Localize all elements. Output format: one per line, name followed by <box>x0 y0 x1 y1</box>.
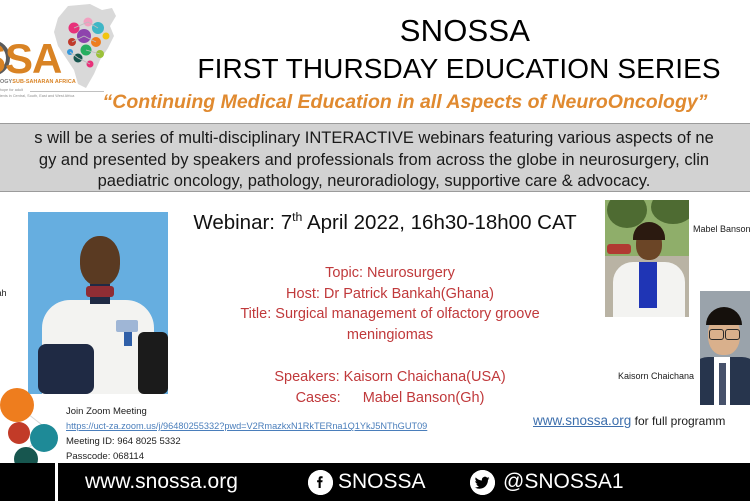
zoom-meeting-passcode: Passcode: 068114 <box>66 449 427 464</box>
footer-divider <box>55 463 58 501</box>
photo-head <box>80 236 120 286</box>
webinar-datetime: Webinar: 7th April 2022, 16h30-18h00 CAT <box>150 210 620 235</box>
session-details: Topic: Neurosurgery Host: Dr Patrick Ban… <box>180 263 600 408</box>
detail-speakers: Speakers: Kaisorn Chaichana(USA) <box>180 367 600 388</box>
logo-subtitle-grey: ONCOLOGY <box>0 79 12 85</box>
zoom-meeting-details: Join Zoom Meeting https://uct-za.zoom.us… <box>66 404 427 464</box>
description-line-1: s will be a series of multi-disciplinary… <box>0 129 750 148</box>
caption-kaisorn-chaichana: Kaisorn Chaichana <box>618 371 694 381</box>
facebook-icon[interactable] <box>308 470 333 495</box>
programme-website-link[interactable]: www.snossa.org <box>533 413 631 428</box>
footer-website[interactable]: www.snossa.org <box>85 470 238 494</box>
photo-chair <box>138 332 168 394</box>
tagline: “Continuing Medical Education in all Asp… <box>55 91 750 114</box>
description-band: s will be a series of multi-disciplinary… <box>0 123 750 192</box>
photo-badge-emblem <box>124 332 132 346</box>
programme-link-row: www.snossa.org for full programm <box>533 413 725 428</box>
logo-subtitle-orange: SUB-SAHARAN AFRICA <box>12 79 76 85</box>
dot-orange <box>0 388 34 422</box>
webinar-label: Webinar: 7 <box>193 211 292 234</box>
photo-name-badge <box>116 320 138 332</box>
footer-bar: www.snossa.org SNOSSA @SNOSSA1 <box>0 463 750 501</box>
dot-teal <box>30 424 58 452</box>
photo-car <box>607 244 631 254</box>
caption-patrick-bankah: ankah <box>0 288 7 298</box>
detail-spacer <box>180 345 600 367</box>
programme-link-tail: for full programm <box>631 414 725 428</box>
photo-blue-scrub <box>639 262 657 308</box>
photo-glasses-right <box>725 329 740 340</box>
dot-red <box>8 422 30 444</box>
logo-subtitle: ONCOLOGYSUB-SAHARAN AFRICA <box>0 79 76 85</box>
page-title: SNOSSA <box>180 14 750 49</box>
detail-title-line2: meningiomas <box>180 325 600 346</box>
poster-canvas: SSA ONCOLOGYSUB-SAHARAN AFRICA Improving… <box>0 0 750 501</box>
webinar-date: April 2022, 16h30-18h00 CAT <box>302 211 576 234</box>
footer-twitter-handle[interactable]: @SNOSSA1 <box>503 470 624 494</box>
webinar-ordinal: th <box>292 210 302 224</box>
twitter-icon[interactable] <box>470 470 495 495</box>
photo-necktie <box>719 363 726 405</box>
zoom-meeting-link[interactable]: https://uct-za.zoom.us/j/96480255332?pwd… <box>66 421 427 431</box>
zoom-meeting-heading: Join Zoom Meeting <box>66 404 427 419</box>
photo-glasses-left <box>709 329 724 340</box>
logo-acronym: SSA <box>0 38 61 80</box>
description-line-2: gy and presented by speakers and profess… <box>0 151 750 170</box>
detail-host: Host: Dr Patrick Bankah(Ghana) <box>180 284 600 305</box>
series-title: FIRST THURSDAY EDUCATION SERIES <box>168 53 750 84</box>
photo-kaisorn-chaichana <box>700 291 750 405</box>
caption-mabel-banson: Mabel Banson <box>693 224 750 234</box>
photo-bowtie <box>86 286 114 297</box>
description-line-3: paediatric oncology, pathology, neurorad… <box>0 172 750 191</box>
photo-mabel-banson <box>605 200 689 317</box>
zoom-meeting-id: Meeting ID: 964 8025 5332 <box>66 434 427 449</box>
detail-topic: Topic: Neurosurgery <box>180 263 600 284</box>
detail-title-line1: Title: Surgical management of olfactory … <box>180 304 600 325</box>
footer-facebook-handle[interactable]: SNOSSA <box>338 470 426 494</box>
photo-patrick-bankah <box>28 212 168 394</box>
